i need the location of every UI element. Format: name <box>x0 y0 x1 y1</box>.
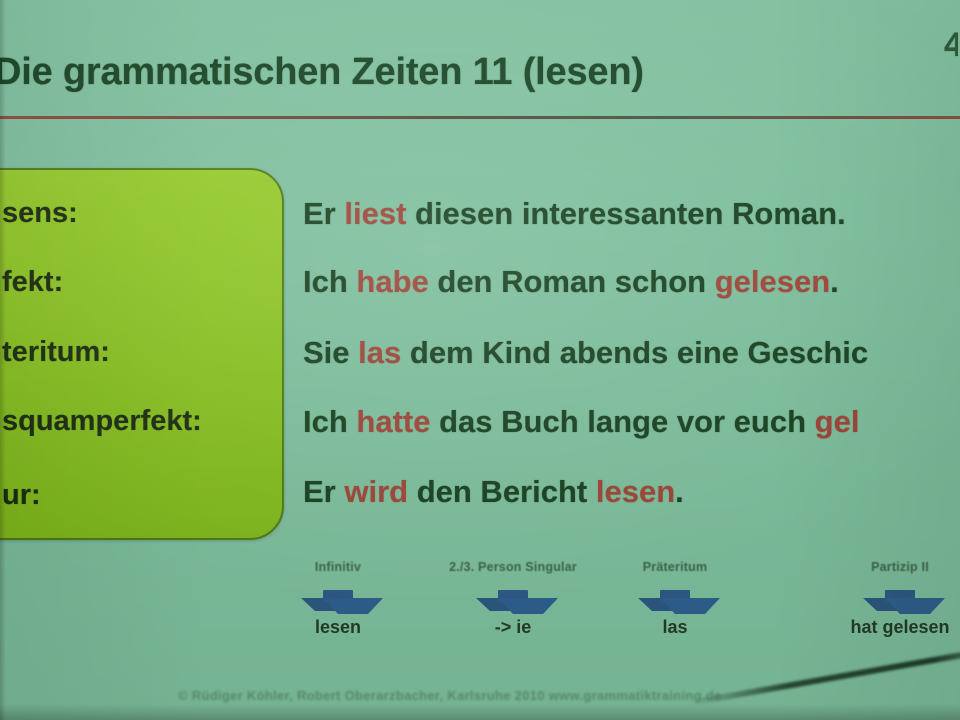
bottom-shadow-artifact <box>0 704 960 720</box>
sentence-text: Ich <box>303 264 356 299</box>
highlighted-verb: liest <box>344 196 406 231</box>
sentence-text: den Bericht <box>408 474 596 509</box>
down-arrow-icon <box>638 589 712 615</box>
principal-part-column-partizip-zwei: Partizip II hat gelesen <box>815 560 960 638</box>
principal-part-value: -> ie <box>428 617 598 638</box>
down-arrow-icon <box>476 589 550 615</box>
tense-label-futur: ur: <box>2 479 41 512</box>
principal-part-column-infinitiv: Infinitiv lesen <box>253 560 423 638</box>
highlighted-verb: gel <box>815 404 860 439</box>
down-arrow-icon <box>301 589 375 615</box>
slide-number: 4 <box>944 26 958 65</box>
principal-part-caption: Partizip II <box>815 560 960 588</box>
principal-part-value: hat gelesen <box>815 617 960 638</box>
principal-part-column-praeteritum: Präteritum las <box>590 560 760 638</box>
sentence-text: Er <box>303 474 344 509</box>
sentence-text: den Roman schon <box>429 264 715 299</box>
example-sentence-plusquamperfekt: Ich hatte das Buch lange vor euch gel <box>303 404 960 440</box>
sentence-text: diesen interessanten Roman. <box>406 196 845 231</box>
highlighted-verb: habe <box>356 264 428 299</box>
principal-part-caption: 2./3. Person Singular <box>428 560 598 588</box>
slide-canvas: Die grammatischen Zeiten 11 (lesen) 4 se… <box>0 0 960 720</box>
highlighted-verb: wird <box>344 474 408 509</box>
principal-part-caption: Präteritum <box>590 560 760 588</box>
down-arrow-icon <box>863 589 937 615</box>
example-sentence-perfekt: Ich habe den Roman schon gelesen. <box>303 264 960 300</box>
example-sentence-praeteritum: Sie las dem Kind abends eine Geschic <box>303 335 960 371</box>
highlighted-verb: las <box>358 335 401 370</box>
sentence-text: Ich <box>303 404 356 439</box>
example-sentence-praesens: Er liest diesen interessanten Roman. <box>303 196 960 232</box>
left-edge-shadow-artifact <box>0 0 6 720</box>
sentence-text: dem Kind abends eine Geschic <box>401 335 868 370</box>
highlighted-verb: lesen <box>596 474 675 509</box>
tense-label-praesens: sens: <box>2 197 78 230</box>
sentence-text: Sie <box>303 335 358 370</box>
sentence-text: Er <box>303 196 344 231</box>
title-divider <box>0 116 960 119</box>
tense-label-plusquamperfekt: squamperfekt: <box>2 405 202 438</box>
principal-part-value: lesen <box>253 617 423 638</box>
page-title: Die grammatischen Zeiten 11 (lesen) <box>0 51 894 94</box>
sentence-text: . <box>830 264 839 299</box>
example-sentence-futur: Er wird den Bericht lesen. <box>303 474 960 510</box>
principal-part-value: las <box>590 617 760 638</box>
principal-part-column-person-singular: 2./3. Person Singular -> ie <box>428 560 598 638</box>
highlighted-verb: hatte <box>356 404 430 439</box>
sentence-text: das Buch lange vor euch <box>430 404 814 439</box>
sentence-text: . <box>675 474 684 509</box>
tense-label-perfekt: fekt: <box>2 266 63 299</box>
tense-label-praeteritum: teritum: <box>2 336 110 369</box>
principal-part-caption: Infinitiv <box>253 560 423 588</box>
highlighted-verb: gelesen <box>715 264 830 299</box>
